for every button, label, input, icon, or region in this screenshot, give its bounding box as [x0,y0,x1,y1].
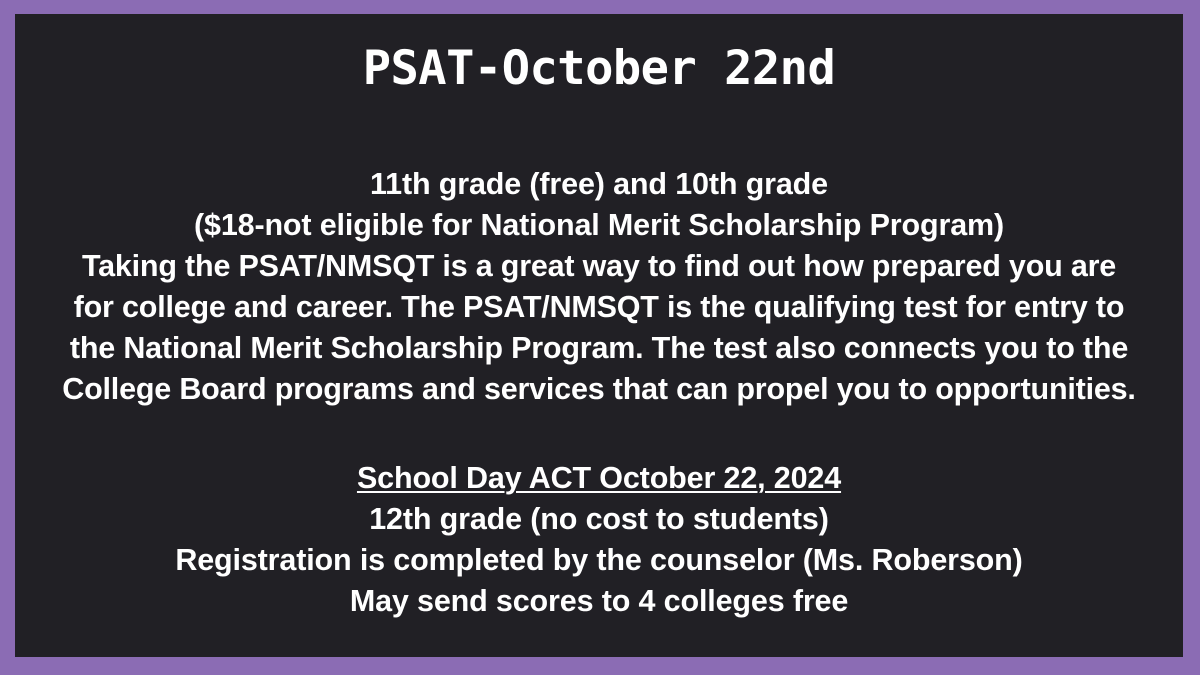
page-title: PSAT-October 22nd [15,44,1183,93]
psat-line-1: 11th grade (free) and 10th grade [15,164,1183,205]
slide-content-panel: PSAT-October 22nd 11th grade (free) and … [15,14,1183,657]
section-spacer [15,410,1183,458]
act-line-2: Registration is completed by the counsel… [15,540,1183,581]
psat-line-2: ($18-not eligible for National Merit Sch… [15,205,1183,246]
act-line-1: 12th grade (no cost to students) [15,499,1183,540]
psat-line-5: the National Merit Scholarship Program. … [15,328,1183,369]
psat-line-6: College Board programs and services that… [15,369,1183,410]
announcement-slide: PSAT-October 22nd 11th grade (free) and … [0,0,1200,675]
psat-line-3: Taking the PSAT/NMSQT is a great way to … [15,246,1183,287]
act-section-heading: School Day ACT October 22, 2024 [15,458,1183,499]
slide-body: 11th grade (free) and 10th grade ($18-no… [15,164,1183,622]
act-line-3: May send scores to 4 colleges free [15,581,1183,622]
psat-line-4: for college and career. The PSAT/NMSQT i… [15,287,1183,328]
